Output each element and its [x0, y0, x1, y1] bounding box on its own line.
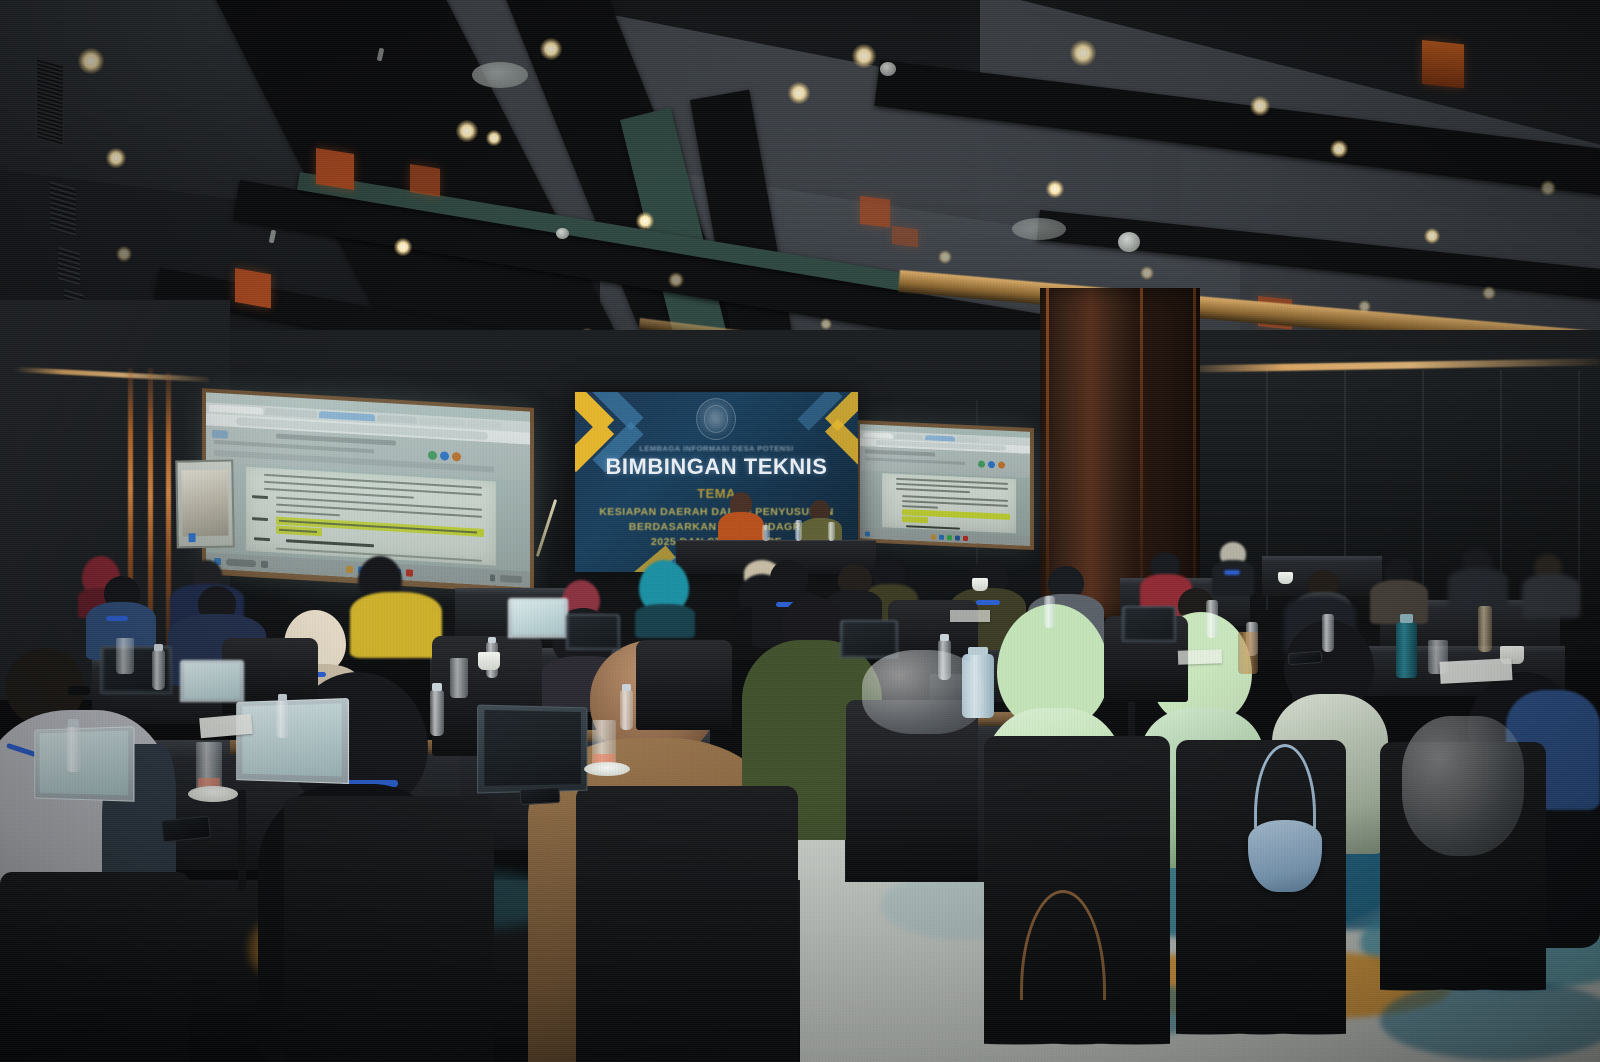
downlight	[636, 212, 654, 230]
banner-title: BIMBINGAN TEKNIS	[575, 454, 858, 480]
smoke-detector	[556, 228, 569, 239]
app-logo-icon	[212, 430, 228, 439]
torso	[1522, 574, 1580, 618]
ceiling-accent-block-5	[1422, 40, 1464, 88]
participant-back-row	[635, 560, 695, 636]
water-bottle[interactable]	[1206, 600, 1218, 638]
document-page	[246, 467, 496, 566]
doc-text-line	[902, 505, 938, 508]
downlight	[106, 148, 126, 168]
water-bottle	[828, 522, 835, 541]
drinking-glass[interactable]	[116, 638, 134, 674]
menu-bar[interactable]	[865, 457, 965, 465]
ceiling-air-vent-2	[50, 181, 76, 236]
browser-tab[interactable]	[419, 417, 465, 427]
document-page	[882, 473, 1016, 533]
lanyard	[1224, 570, 1240, 575]
ceiling-air-vent-3	[58, 247, 80, 285]
browser-tab[interactable]	[377, 415, 417, 424]
downlight	[1424, 228, 1440, 244]
bottle-cap	[940, 634, 949, 641]
smoke-detector	[880, 62, 896, 76]
doc-section-title	[286, 539, 374, 547]
pdf-icon[interactable]	[963, 535, 968, 540]
laptop[interactable]	[236, 698, 349, 784]
participant-back-row	[1370, 558, 1428, 622]
downlight	[852, 44, 876, 68]
ceiling-accent-block-1	[316, 148, 354, 190]
bottle-cap	[622, 684, 631, 691]
organization-crest-icon	[696, 398, 736, 440]
eyeglasses	[68, 686, 90, 695]
downlight	[788, 82, 810, 104]
plastic-bag	[1402, 716, 1524, 856]
coffee-cup[interactable]	[478, 652, 500, 670]
laptop-screen[interactable]	[569, 616, 617, 647]
notepad[interactable]	[1439, 658, 1512, 684]
doc-list-number	[252, 495, 268, 499]
ceiling-accent-block-3	[235, 268, 271, 308]
downlight	[668, 272, 684, 288]
downlight	[1540, 180, 1556, 196]
ceiling-air-vent-1	[36, 56, 64, 146]
water-bottle	[795, 520, 802, 541]
ceiling-accent-block-7	[892, 226, 918, 247]
downlight	[486, 130, 502, 146]
coffee-cup[interactable]	[972, 578, 988, 591]
easel-poster	[182, 470, 229, 536]
batik-torso	[1370, 580, 1428, 624]
downlight	[1140, 266, 1154, 280]
laptop[interactable]	[477, 705, 587, 794]
water-bottle[interactable]	[1044, 596, 1055, 628]
smartphone[interactable]	[520, 787, 561, 805]
word-icon[interactable]	[955, 535, 960, 540]
downlight	[1070, 40, 1096, 66]
flipchart-easel	[175, 460, 235, 549]
water-bottle[interactable]	[430, 690, 444, 736]
laptop[interactable]	[566, 614, 620, 650]
laptop-screen[interactable]	[843, 622, 894, 655]
browser-icon[interactable]	[939, 534, 944, 539]
water-bottle[interactable]	[276, 700, 289, 738]
downlight	[938, 250, 952, 264]
bottle-cap	[278, 694, 287, 701]
laptop-screen[interactable]	[512, 600, 565, 634]
table-leg	[238, 790, 246, 890]
whatsapp-icon[interactable]	[947, 535, 952, 540]
highlighted-paragraph	[902, 516, 928, 523]
document-title	[865, 449, 935, 456]
explorer-icon[interactable]	[931, 534, 936, 539]
chair	[636, 640, 732, 730]
taskview-icon[interactable]	[261, 560, 268, 567]
ceiling-accent-block-2	[410, 164, 440, 197]
drinking-glass[interactable]	[450, 658, 468, 698]
presence-avatar	[440, 451, 449, 461]
system-tray-icon[interactable]	[490, 574, 495, 581]
laptop-screen[interactable]	[40, 731, 128, 796]
drinking-glass	[762, 525, 770, 541]
laptop[interactable]	[34, 726, 134, 802]
saucer	[188, 786, 238, 802]
laptop-screen[interactable]	[184, 663, 240, 699]
drinking-glass[interactable]	[1238, 632, 1258, 674]
clock[interactable]	[500, 574, 522, 582]
fire-sprinkler	[269, 230, 277, 244]
torso	[1448, 568, 1508, 610]
laptop-screen[interactable]	[484, 710, 581, 786]
participant-back-row	[350, 592, 442, 660]
doc-text-line	[276, 511, 340, 517]
doc-list-number	[252, 517, 268, 521]
downlight	[1046, 180, 1064, 198]
water-bottle[interactable]	[152, 650, 165, 690]
air-diffuser	[1012, 218, 1066, 240]
easel-marker	[189, 533, 196, 542]
laptop[interactable]	[1122, 606, 1176, 642]
downlight	[394, 238, 412, 256]
covered-chair	[0, 872, 190, 1062]
teal-thermos[interactable]	[1396, 622, 1417, 678]
ceiling-accent-block-4	[860, 196, 890, 228]
presence-avatar	[452, 452, 461, 462]
column-edge-highlight	[1193, 288, 1196, 618]
presence-avatar	[428, 451, 437, 461]
participant-back-row	[1448, 548, 1508, 608]
downlight	[1482, 286, 1496, 300]
doc-text-line	[279, 529, 317, 533]
downlight	[78, 48, 104, 74]
bottle-cap	[432, 683, 442, 691]
presence-avatar	[978, 460, 985, 467]
downlight	[456, 120, 478, 142]
bottle-cap	[68, 719, 79, 727]
presence-avatar	[998, 461, 1005, 468]
covered-chair	[284, 796, 494, 1062]
laptop[interactable]	[180, 660, 244, 702]
downlight	[540, 38, 562, 60]
bottle-cap	[154, 644, 163, 651]
seminar-room-photograph: LEMBAGA INFORMASI DESA POTENSI BIMBINGAN…	[0, 0, 1600, 1062]
water-bottle[interactable]	[1478, 606, 1492, 652]
laptop[interactable]	[508, 598, 568, 638]
coffee-cup[interactable]	[1278, 572, 1293, 584]
downlight	[1250, 96, 1270, 116]
bottle-cap	[968, 647, 988, 655]
doc-text-line	[896, 488, 970, 493]
smartphone[interactable]	[1288, 651, 1323, 665]
browser-tab[interactable]	[467, 420, 501, 429]
downlight	[1358, 300, 1371, 313]
bottle-cap	[488, 637, 496, 643]
ceiling-speaker	[1118, 232, 1140, 252]
yellow-batik-torso	[350, 592, 442, 658]
lanyard	[106, 616, 128, 621]
notepad[interactable]	[950, 610, 990, 622]
banner-organization-name: LEMBAGA INFORMASI DESA POTENSI	[575, 444, 858, 453]
water-bottle[interactable]	[620, 690, 633, 730]
browser-tab[interactable]	[957, 437, 979, 443]
air-diffuser	[472, 62, 528, 88]
saucer	[584, 762, 630, 776]
plastic-bag	[862, 650, 984, 734]
light-blue-handbag	[1248, 820, 1322, 892]
participant-back-row	[1522, 554, 1580, 616]
covered-chair	[576, 786, 798, 1062]
highlighted-paragraph	[276, 526, 322, 537]
downlight	[820, 318, 832, 330]
downlight	[116, 246, 132, 262]
laptop-screen[interactable]	[1125, 608, 1173, 639]
laptop-screen[interactable]	[242, 703, 341, 777]
water-bottle[interactable]	[66, 726, 81, 772]
presence-avatar	[988, 461, 995, 468]
torso	[635, 604, 695, 638]
notepad[interactable]	[1178, 649, 1222, 665]
doc-section-title	[906, 525, 960, 529]
doc-section-number	[254, 537, 270, 541]
bottle-cap	[1400, 614, 1413, 623]
right-projection-screen[interactable]	[860, 424, 1030, 546]
participant-back-row	[1212, 542, 1254, 594]
doc-text-line	[276, 504, 482, 518]
doc-text-line	[276, 497, 482, 511]
banner-tema-label: TEMA	[575, 486, 858, 501]
downlight	[1330, 140, 1348, 158]
start-icon[interactable]	[865, 531, 870, 536]
water-bottle[interactable]	[1322, 614, 1334, 652]
laptop[interactable]	[840, 620, 898, 658]
